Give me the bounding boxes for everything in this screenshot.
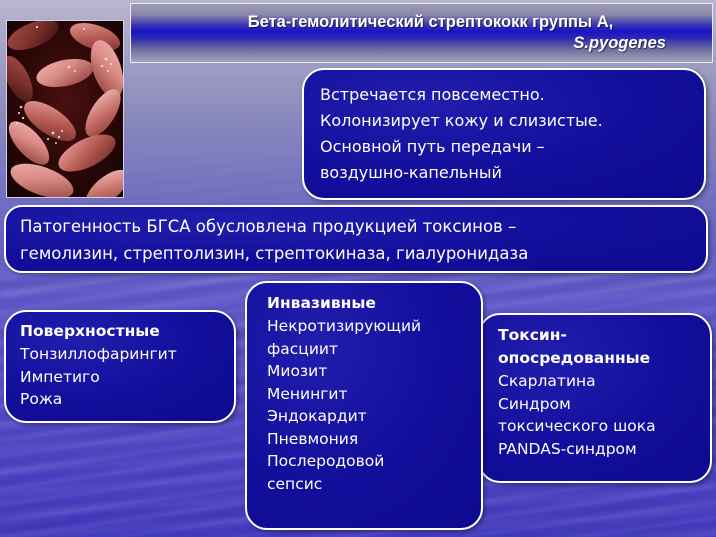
epidemiology-box: Встречается повсеместно. Колонизирует ко…	[302, 68, 706, 200]
page-title-line-1: Бета-гемолитический стрептококк группы А…	[161, 12, 700, 33]
slide-title-banner: Бета-гемолитический стрептококк группы А…	[130, 3, 713, 63]
page-title-line-2: S.pyogenes	[161, 33, 700, 54]
pathogenicity-box: Патогенность БГСА обусловлена продукцией…	[4, 205, 708, 273]
superficial-items: Тонзиллофарингит Импетиго Рожа	[20, 343, 222, 411]
slide-canvas: Бета-гемолитический стрептококк группы А…	[0, 0, 716, 537]
invasive-header: Инвазивные	[267, 292, 471, 315]
toxin-mediated-header: Токсин- опосредованные	[498, 324, 700, 370]
toxin-mediated-items: Скарлатина Синдром токсического шока PAN…	[498, 370, 700, 460]
bacteria-micrograph	[6, 20, 124, 198]
invasive-items: Некротизирующий фасциит Миозит Менингит …	[267, 315, 471, 495]
epidemiology-text: Встречается повсеместно. Колонизирует ко…	[320, 82, 688, 186]
superficial-infections-box: Поверхностные Тонзиллофарингит Импетиго …	[4, 310, 236, 423]
micrograph-artwork	[7, 21, 123, 197]
pathogenicity-text: Патогенность БГСА обусловлена продукцией…	[20, 213, 692, 267]
toxin-mediated-box: Токсин- опосредованные Скарлатина Синдро…	[478, 313, 712, 483]
superficial-header: Поверхностные	[20, 320, 222, 343]
invasive-infections-box: Инвазивные Некротизирующий фасциит Миози…	[245, 281, 483, 530]
